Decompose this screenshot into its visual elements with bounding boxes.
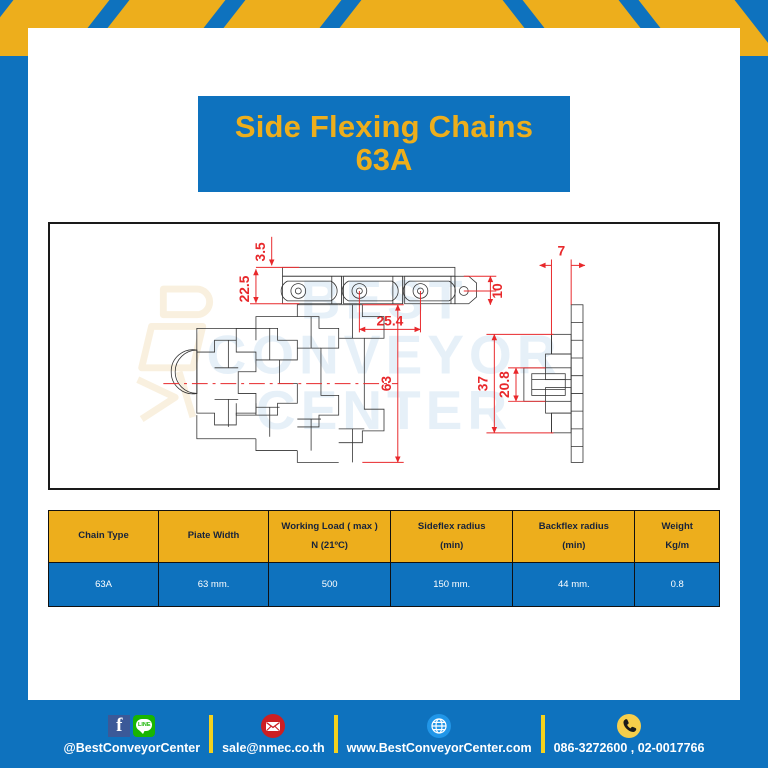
cell-backflex-radius: 44 mm. [513,563,635,607]
dimension-22-5: 22.5 [237,269,299,303]
header-weight: Weight Kg/m [635,511,720,563]
header-backflex-radius: Backflex radius (min) [513,511,635,563]
header-sideflex-radius: Sideflex radius (min) [391,511,513,563]
line-icon[interactable]: LINE [133,715,155,737]
table-row: 63A 63 mm. 500 150 mm. 44 mm. 0.8 [49,563,720,607]
svg-text:10: 10 [490,283,505,299]
header-line-2: (min) [440,540,463,551]
page-title: Side Flexing Chains [235,111,533,144]
header-line-1: Chain Type [78,530,129,541]
footer-social-group[interactable]: f LINE @BestConveyorCenter [55,713,210,755]
facebook-icon[interactable]: f [108,715,130,737]
header-line-2: N (21ºC) [311,540,348,551]
phone-icons [617,713,641,739]
svg-text:25.4: 25.4 [376,313,403,328]
website-icons [427,713,451,739]
svg-text:20.8: 20.8 [497,371,512,398]
header-line-1: Sideflex radius [418,521,486,532]
social-icons: f LINE [108,713,155,739]
header-chain-type: Chain Type [49,511,159,563]
header-line-1: Weight [661,521,693,532]
header-line-2: Kg/m [665,540,689,551]
svg-text:3.5: 3.5 [253,242,268,261]
cell-chain-type: 63A [49,563,159,607]
svg-text:22.5: 22.5 [237,275,252,302]
header-line-1: Piate Width [188,530,240,541]
dimension-10: 10 [464,276,505,305]
header-line-1: Working Load ( max ) [281,521,377,532]
email-icons [261,713,285,739]
footer-phone-group[interactable]: 086-3272600 , 02-0017766 [545,713,714,755]
cell-sideflex-radius: 150 mm. [391,563,513,607]
header-line-2: (min) [562,540,585,551]
cell-plate-width: 63 mm. [159,563,269,607]
technical-drawing-frame: BEST CONVEYOR CENTER [48,222,720,490]
email-address[interactable]: sale@nmec.co.th [222,741,325,755]
dimension-3-5: 3.5 [253,237,299,268]
title-banner: Side Flexing Chains 63A [198,96,570,192]
table-header-row: Chain Type Piate Width Working Load ( ma… [49,511,720,563]
phone-numbers[interactable]: 086-3272600 , 02-0017766 [554,741,705,755]
phone-icon[interactable] [617,714,641,738]
header-working-load: Working Load ( max ) N (21ºC) [269,511,391,563]
footer-contact-bar: f LINE @BestConveyorCenter sale@nmec.co.… [0,700,768,768]
model-number: 63A [356,144,413,177]
website-url[interactable]: www.BestConveyorCenter.com [347,741,532,755]
svg-text:63: 63 [379,376,394,392]
header-line-1: Backflex radius [539,521,609,532]
content-card: Side Flexing Chains 63A [28,28,740,700]
footer-website-group[interactable]: www.BestConveyorCenter.com [338,713,541,755]
svg-text:7: 7 [557,244,565,259]
cell-working-load: 500 [269,563,391,607]
dimension-7: 7 [540,244,585,335]
specification-table: Chain Type Piate Width Working Load ( ma… [48,510,720,607]
header-plate-width: Piate Width [159,511,269,563]
email-icon[interactable] [261,714,285,738]
technical-drawing: BEST CONVEYOR CENTER [50,224,718,488]
cell-weight: 0.8 [635,563,720,607]
social-handle[interactable]: @BestConveyorCenter [64,741,201,755]
footer-email-group[interactable]: sale@nmec.co.th [213,713,334,755]
svg-text:37: 37 [475,376,490,392]
globe-icon[interactable] [427,714,451,738]
